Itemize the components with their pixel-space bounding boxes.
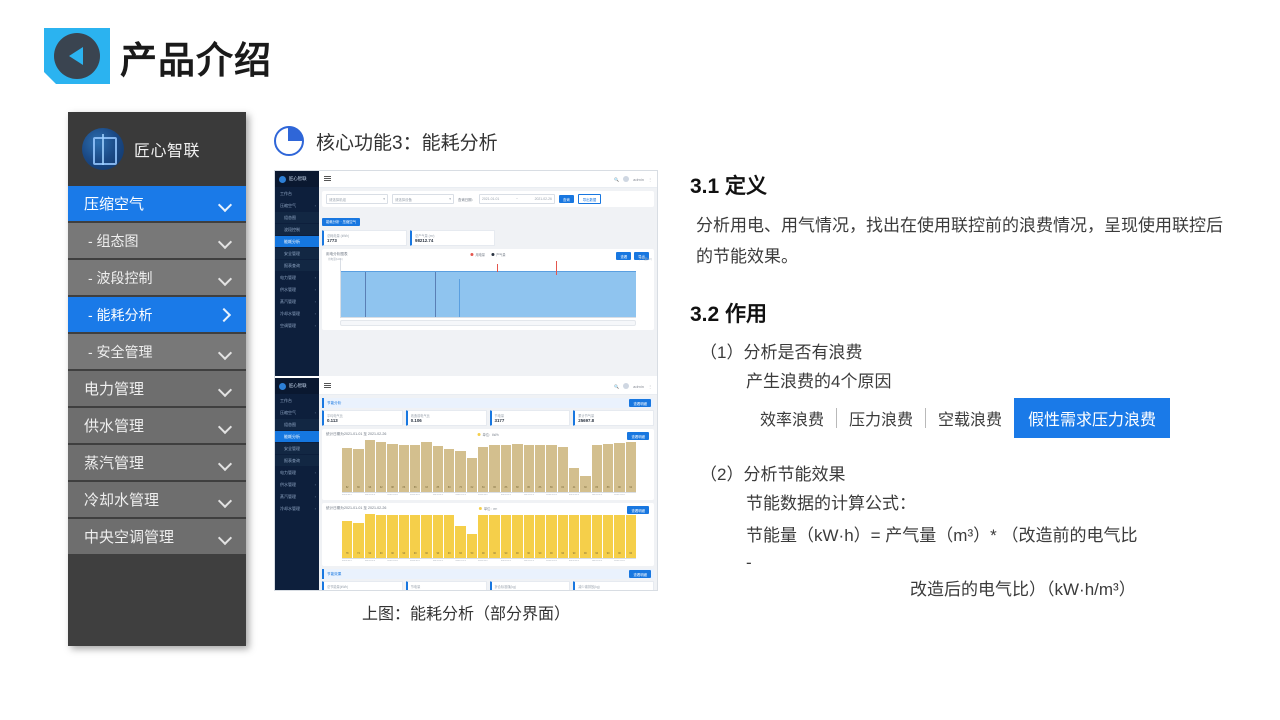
bar: 84 (478, 447, 488, 493)
bar-value: 80 (357, 486, 360, 489)
legend-item[interactable]: 单位：m³ (479, 506, 497, 511)
bar: 93 (421, 442, 431, 492)
menu-item-water-supply[interactable]: 供水管理 (68, 408, 246, 443)
app-nav-label: 电力管理 (280, 470, 296, 476)
bar: 96 (365, 440, 375, 492)
x-tick-label: 2021-01-07 (410, 494, 420, 496)
bar-value: 90 (482, 552, 485, 555)
app-nav-item[interactable]: 蒸汽管理› (275, 491, 319, 502)
app-nav-item[interactable]: 报表查询 (275, 260, 319, 271)
app-nav-label: 空调管理 (280, 323, 296, 329)
app-sidebar-brand: 匠心智联 (275, 171, 319, 187)
x-tick-label (376, 560, 386, 562)
app-logo-icon (279, 383, 286, 390)
avatar[interactable] (623, 383, 629, 389)
x-tick-label: 2021-01-15 (501, 560, 511, 562)
chevron-down-icon (218, 345, 232, 359)
app-nav-item[interactable]: 供水管理› (275, 479, 319, 490)
date-from-value: 2021-01-01 (482, 197, 499, 201)
chevron-down-icon (218, 271, 232, 285)
app-nav-item[interactable]: 报表查询 (275, 455, 319, 466)
bar-value: 90 (527, 552, 530, 555)
x-tick-label (535, 560, 545, 562)
x-tick-label (376, 494, 386, 496)
bar: 86 (546, 445, 556, 492)
bottom-card: 减少碳排放(kg) 29966 (573, 581, 654, 591)
chevron-icon: › (315, 410, 316, 415)
bar-value: 90 (505, 552, 508, 555)
bar: 76 (455, 451, 465, 492)
bar-chart-plot-tan: 8280969288868693858076628486868886868684… (342, 440, 636, 493)
x-tick-label (467, 494, 477, 496)
menu-item-energy-analysis[interactable]: - 能耗分析 (68, 297, 246, 332)
bar-value: 82 (346, 486, 349, 489)
app-nav-item[interactable]: 电力管理› (275, 272, 319, 283)
x-tick-label: 2021-01-01 (342, 494, 352, 496)
bar-value: 90 (425, 552, 428, 555)
search-icon[interactable]: 🔍 (614, 384, 619, 389)
bar-value: 96 (369, 486, 372, 489)
menu-item-configuration-diagram[interactable]: - 组态图 (68, 223, 246, 258)
menu-item-central-ac[interactable]: 中央空调管理 (68, 519, 246, 554)
purpose-item-1-sub: 产生浪费的4个原因 (690, 367, 1235, 392)
bar-chart-card-yellow: 统计日期为2021-01-01 至 2021-02-26 单位：m³ 查看明细 … (322, 503, 654, 566)
menu-item-steam-management[interactable]: 蒸汽管理 (68, 445, 246, 480)
bar-value: 86 (414, 486, 417, 489)
export-button[interactable]: 导出数据 (578, 194, 602, 204)
menu-item-compressed-air[interactable]: 压缩空气 (68, 186, 246, 221)
bar: 92 (626, 442, 636, 492)
x-tick-label: 2021-01-13 (478, 560, 488, 562)
app-nav-item[interactable]: 供水管理› (275, 284, 319, 295)
app-sidebar-2: 匠心智联 工作台 压缩空气› 组态图 能耗分析 安全管理 报表查询 电力管理› … (275, 378, 319, 591)
area-series-fill (341, 271, 636, 317)
bar-value: 92 (369, 552, 372, 555)
bar: 80 (444, 449, 454, 492)
x-tick-label (399, 494, 409, 496)
app-filter-bar: 请选择机组▾ 请选择设备▾ 查询日期： 2021-01-01 ~ 2021-02… (322, 191, 654, 207)
bar: 90 (558, 515, 568, 558)
menu-item-safety-management[interactable]: - 安全管理 (68, 334, 246, 369)
bar-chart-xaxis-tan: 2021-01-012021-01-032021-01-052021-01-07… (342, 494, 636, 496)
bar: 86 (489, 445, 499, 492)
bar: 88 (387, 444, 397, 492)
app-nav-item[interactable]: 压缩空气› (275, 200, 319, 211)
app-main-bottom: 🔍 admin ⋮ 节能分析 查看明细 平均电气比 0.113 (319, 378, 657, 591)
bar-chart-plot-yellow: 7874929090909090909066509090909090909090… (342, 514, 636, 559)
search-icon[interactable]: 🔍 (614, 177, 619, 182)
waste-reason-pressure[interactable]: 压力浪费 (837, 400, 925, 436)
bar: 86 (535, 445, 545, 492)
formula-line-1: 节能量（kW·h）= 产气量（m³）* （改造前的电气比 (690, 520, 1235, 552)
x-tick-label (444, 494, 454, 496)
bar-value: 62 (471, 486, 474, 489)
app-nav-item[interactable]: 安全管理 (275, 443, 319, 454)
bar-value: 86 (493, 486, 496, 489)
bar-value: 90 (516, 552, 519, 555)
app-nav-label: 压缩空气 (280, 410, 296, 416)
x-tick-label: 2021-01-11 (455, 494, 465, 496)
app-logo-icon (279, 176, 286, 183)
x-tick-label: 2021-01-25 (614, 560, 624, 562)
bar: 90 (592, 515, 602, 558)
app-nav-item[interactable]: 空调管理› (275, 320, 319, 331)
app-nav-label: 压缩空气 (280, 203, 296, 209)
bar: 30 (580, 476, 590, 492)
chart-legend: 单位：m³ (479, 506, 497, 511)
search-button[interactable]: 查询 (559, 195, 574, 203)
x-tick-label: 2021-01-19 (546, 494, 556, 496)
menu-item-label: - 组态图 (88, 231, 139, 251)
bar-value: 90 (573, 552, 576, 555)
chevron-icon: › (315, 470, 316, 475)
legend-label: 用电量 (475, 253, 485, 257)
company-logo-icon (82, 128, 124, 170)
x-tick-label (444, 560, 454, 562)
x-tick-label: 2021-01-19 (546, 560, 556, 562)
stat-card: 节电量 3177 (490, 410, 571, 426)
stat-card: 改造前电气比 0.106 (406, 410, 487, 426)
bar: 62 (467, 458, 477, 492)
stat-card: 平均电气比 0.113 (322, 410, 403, 426)
bar-value: 90 (595, 552, 598, 555)
panel-action-button[interactable]: 查看明细 (629, 570, 651, 578)
tab-energy-analysis[interactable]: 能耗分析 · 压缩空气 (322, 218, 360, 226)
waste-reason-efficiency[interactable]: 效率浪费 (748, 400, 836, 436)
app-nav-label: 供水管理 (280, 482, 296, 488)
bar: 90 (399, 515, 409, 558)
chevron-icon: › (315, 494, 316, 499)
x-tick-label (535, 494, 545, 496)
bar-value: 90 (391, 552, 394, 555)
legend-item[interactable]: 产气量 (491, 252, 506, 257)
app-nav-label: 工作台 (280, 398, 292, 404)
bottom-card-value: 1159 (327, 589, 399, 591)
bar: 90 (546, 515, 556, 558)
avatar[interactable] (623, 176, 629, 182)
app-nav-item[interactable]: 波段控制 (275, 224, 319, 235)
bar-value: 86 (403, 486, 406, 489)
app-nav-label: 能耗分析 (284, 239, 300, 245)
subsection-title-purpose: 3.2 作用 (690, 298, 1235, 328)
app-nav-label: 蒸汽管理 (280, 299, 296, 305)
chevron-icon: › (315, 299, 316, 304)
chevron-icon: › (315, 203, 316, 208)
legend-item[interactable]: 用电量 (470, 252, 485, 257)
app-main-top: 🔍 admin ⋮ 请选择机组▾ 请选择设备▾ 查询日期： 2 (319, 171, 657, 376)
hamburger-icon[interactable] (324, 176, 331, 182)
bar-value: 78 (346, 552, 349, 555)
screenshot-caption: 上图：能耗分析（部分界面） (274, 600, 658, 624)
legend-label: 单位：m³ (484, 507, 497, 511)
bar: 90 (535, 515, 545, 558)
x-tick-label (467, 560, 477, 562)
definition-paragraph: 分析用电、用气情况，找出在使用联控前的浪费情况，呈现使用联控后的节能效果。 (690, 210, 1235, 272)
menu-item-label: 供水管理 (84, 415, 144, 436)
section-heading: 核心功能3：能耗分析 (274, 126, 498, 156)
x-tick-label (603, 560, 613, 562)
date-range-field[interactable]: 2021-01-01 ~ 2021-02-26 (479, 194, 555, 204)
y-axis-left-label: 用电量(kWh) (328, 257, 343, 261)
bar: 78 (342, 521, 352, 558)
bar: 90 (569, 515, 579, 558)
x-tick-label: 2021-01-21 (569, 494, 579, 496)
date-sep: ~ (516, 197, 518, 201)
kpi-card: 总产气量 (m³) 98212.74 (410, 230, 495, 246)
bar: 86 (501, 445, 511, 492)
page-title: 产品介绍 (120, 30, 272, 84)
x-tick-label (489, 560, 499, 562)
app-nav-item[interactable]: 组态图 (275, 419, 319, 430)
bar-value: 92 (629, 486, 632, 489)
chevron-down-icon: ▾ (449, 197, 451, 201)
x-tick-label: 2021-01-23 (592, 560, 602, 562)
bar: 90 (478, 515, 488, 558)
app-sidebar: 匠心智联 工作台 压缩空气› 组态图 波段控制 能耗分析 安全管理 报表查询 电… (275, 171, 319, 376)
menu-item-band-control[interactable]: - 波段控制 (68, 260, 246, 295)
kpi-value: 98212.74 (415, 238, 491, 243)
section-heading-label: 核心功能3：能耗分析 (316, 128, 498, 155)
menu-item-power-management[interactable]: 电力管理 (68, 371, 246, 406)
menu-item-label: - 能耗分析 (88, 305, 153, 325)
app-nav-label: 安全管理 (284, 251, 300, 257)
screenshot-pane-top: 匠心智联 工作台 压缩空气› 组态图 波段控制 能耗分析 安全管理 报表查询 电… (275, 171, 657, 378)
x-tick-label: 2021-01-03 (365, 560, 375, 562)
legend-label: 产气量 (496, 253, 506, 257)
bar: 86 (399, 445, 409, 492)
app-nav-item[interactable]: 工作台 (275, 188, 319, 199)
bar-value: 90 (380, 552, 383, 555)
bar: 90 (421, 515, 431, 558)
app-nav-item[interactable]: 电力管理› (275, 467, 319, 478)
app-nav-item[interactable]: 冷却水管理› (275, 308, 319, 319)
x-tick-label (399, 560, 409, 562)
app-nav-label: 安全管理 (284, 446, 300, 452)
legend-label: 单位：kWh (483, 433, 499, 437)
chevron-down-icon: ▾ (383, 197, 385, 201)
x-tick-label (558, 494, 568, 496)
panel-header-effect: 节能效果 查看明细 (322, 569, 654, 579)
chevron-down-icon (218, 419, 232, 433)
bar: 90 (433, 515, 443, 558)
x-tick-label (421, 494, 431, 496)
machine-select-value: 请选择机组 (329, 197, 346, 202)
bar-value: 90 (629, 552, 632, 555)
chevron-down-icon (218, 197, 232, 211)
x-tick-label (626, 494, 636, 496)
waste-reason-idle[interactable]: 空载浪费 (926, 400, 1014, 436)
x-tick-label: 2021-01-11 (455, 560, 465, 562)
menu-item-label: 压缩空气 (84, 193, 144, 214)
chevron-icon: › (315, 323, 316, 328)
x-tick-label: 2021-01-09 (433, 560, 443, 562)
panel-title: 节能分析 (327, 401, 341, 406)
x-tick-label: 2021-01-17 (524, 560, 534, 562)
bar: 88 (603, 444, 613, 492)
bar-value: 86 (527, 486, 530, 489)
x-tick-label: 2021-01-05 (387, 494, 397, 496)
x-tick-label (353, 494, 363, 496)
bar-value: 74 (357, 552, 360, 555)
bar: 90 (444, 515, 454, 558)
waste-reason-false-demand[interactable]: 假性需求压力浪费 (1014, 398, 1170, 438)
x-tick-label: 2021-01-03 (365, 494, 375, 496)
x-tick-label (580, 560, 590, 562)
app-nav-label: 组态图 (284, 422, 296, 428)
x-tick-label: 2021-01-07 (410, 560, 420, 562)
bar-value: 80 (448, 486, 451, 489)
bar-value: 90 (437, 552, 440, 555)
chevron-down-icon (218, 234, 232, 248)
bar-value: 90 (618, 486, 621, 489)
chevron-icon: › (315, 275, 316, 280)
x-tick-label: 2021-01-13 (478, 494, 488, 496)
menu-item-label: 冷却水管理 (84, 489, 159, 510)
chevron-icon: › (315, 311, 316, 316)
device-select-value: 请选择设备 (395, 197, 412, 202)
menu-item-label: 中央空调管理 (84, 526, 174, 547)
machine-select[interactable]: 请选择机组▾ (326, 194, 388, 204)
x-tick-label: 2021-01-05 (387, 560, 397, 562)
purpose-item-2: （2）分析节能效果 (690, 460, 1235, 485)
legend-item[interactable]: 单位：kWh (478, 432, 499, 437)
bar-value: 92 (380, 486, 383, 489)
bar: 90 (603, 515, 613, 558)
user-name: admin (633, 384, 644, 389)
bar-value: 88 (607, 486, 610, 489)
app-nav-item[interactable]: 工作台 (275, 395, 319, 406)
bar: 92 (376, 442, 386, 492)
bar: 90 (387, 515, 397, 558)
area-chart-card: 用电分析图表 用电量 产气量 查看 导出 (322, 249, 654, 330)
bar: 90 (512, 515, 522, 558)
pie-chart-icon (274, 126, 304, 156)
kpi-card: 总耗电量 (kWh) 1773 (322, 230, 407, 246)
device-select[interactable]: 请选择设备▾ (392, 194, 454, 204)
x-tick-label (512, 560, 522, 562)
menu-item-label: 蒸汽管理 (84, 452, 144, 473)
bar-chart-card-tan: 统计日期为2021-01-01 至 2021-02-26 单位：kWh 查看明细… (322, 429, 654, 500)
menu-brand-label: 匠心智联 (134, 137, 200, 161)
app-nav-item[interactable]: 组态图 (275, 212, 319, 223)
app-nav-item-active[interactable]: 能耗分析 (275, 431, 319, 442)
bar-value: 66 (459, 552, 462, 555)
app-nav-label: 电力管理 (280, 275, 296, 281)
play-back-icon (54, 33, 100, 79)
date-to-value: 2021-02-26 (535, 197, 552, 201)
subsection-title-definition: 3.1 定义 (690, 170, 1235, 200)
date-label: 查询日期： (458, 197, 475, 202)
x-tick-label (558, 560, 568, 562)
hamburger-icon[interactable] (324, 383, 331, 389)
bottom-card: 节电量 272 (406, 581, 487, 591)
bar: 85 (433, 446, 443, 492)
app-nav-label: 冷却水管理 (280, 506, 300, 512)
x-tick-label: 2021-01-25 (614, 494, 624, 496)
bottom-card: 总节能量(kWh) 1159 (322, 581, 403, 591)
chart-detail-button-2[interactable]: 查看明细 (627, 506, 649, 514)
app-nav-label: 报表查询 (284, 458, 300, 464)
bar-value: 86 (595, 486, 598, 489)
app-brand-label: 匠心智联 (289, 176, 307, 183)
bottom-card-value: 29966 (578, 589, 650, 591)
x-tick-label (353, 560, 363, 562)
app-topbar-2: 🔍 admin ⋮ (319, 378, 657, 395)
bar-value: 86 (505, 486, 508, 489)
bar: 86 (524, 445, 534, 492)
app-nav-label: 蒸汽管理 (280, 494, 296, 500)
bar-chart-xaxis-yellow: 2021-01-012021-01-032021-01-052021-01-07… (342, 560, 636, 562)
x-tick-label (421, 560, 431, 562)
app-nav-item[interactable]: 安全管理 (275, 248, 319, 259)
bar: 90 (626, 515, 636, 558)
bar: 50 (467, 534, 477, 558)
area-chart-plot: 用电量(kWh) 产气量(m³) (340, 259, 636, 318)
bar: 80 (353, 449, 363, 492)
chart-detail-button[interactable]: 查看明细 (627, 432, 649, 440)
chevron-icon: › (315, 506, 316, 511)
bar: 66 (455, 526, 465, 558)
app-nav-label: 波段控制 (284, 227, 300, 233)
bar-value: 88 (391, 486, 394, 489)
panel-header-energy-saving: 节能分析 查看明细 (322, 398, 654, 408)
app-tab-row: 能耗分析 · 压缩空气 (319, 210, 657, 230)
bar-value: 90 (448, 552, 451, 555)
app-nav-label: 报表查询 (284, 263, 300, 269)
app-sidebar-brand-2: 匠心智联 (275, 378, 319, 394)
x-tick-label: 2021-01-01 (342, 560, 352, 562)
purpose-item-1: （1）分析是否有浪费 (690, 338, 1235, 363)
stat-value: 0.106 (411, 418, 483, 423)
menu-item-cooling-water[interactable]: 冷却水管理 (68, 482, 246, 517)
bar-value: 50 (471, 552, 474, 555)
bar-value: 85 (437, 486, 440, 489)
chevron-icon: › (315, 287, 316, 292)
x-tick-label: 2021-01-17 (524, 494, 534, 496)
bar: 74 (353, 523, 363, 558)
bar: 84 (558, 447, 568, 493)
more-icon[interactable]: ⋮ (648, 177, 652, 182)
bar-value: 44 (573, 486, 576, 489)
bar: 90 (524, 515, 534, 558)
bar-value: 88 (516, 486, 519, 489)
stat-value: 0.113 (327, 418, 399, 423)
app-nav-item-active[interactable]: 能耗分析 (275, 236, 319, 247)
stat-card: 累计节气量 25697.8 (573, 410, 654, 426)
bar-value: 90 (618, 552, 621, 555)
x-tick-label: 2021-01-15 (501, 494, 511, 496)
bar: 90 (580, 515, 590, 558)
more-icon[interactable]: ⋮ (648, 384, 652, 389)
panel-action-button[interactable]: 查看明细 (629, 399, 651, 407)
app-nav-item[interactable]: 压缩空气› (275, 407, 319, 418)
bar: 90 (410, 515, 420, 558)
app-nav-item[interactable]: 冷却水管理› (275, 503, 319, 514)
x-tick-label (626, 560, 636, 562)
bar: 82 (342, 448, 352, 492)
chart-scrollbar[interactable] (340, 320, 636, 326)
bar: 90 (376, 515, 386, 558)
app-nav-item[interactable]: 蒸汽管理› (275, 296, 319, 307)
app-nav-label: 组态图 (284, 215, 296, 221)
user-name: admin (633, 177, 644, 182)
menu-item-label: 电力管理 (84, 378, 144, 399)
bar-value: 90 (550, 552, 553, 555)
chevron-down-icon (218, 530, 232, 544)
bar-value: 84 (482, 486, 485, 489)
chevron-right-icon (218, 308, 232, 322)
app-topbar: 🔍 admin ⋮ (319, 171, 657, 188)
